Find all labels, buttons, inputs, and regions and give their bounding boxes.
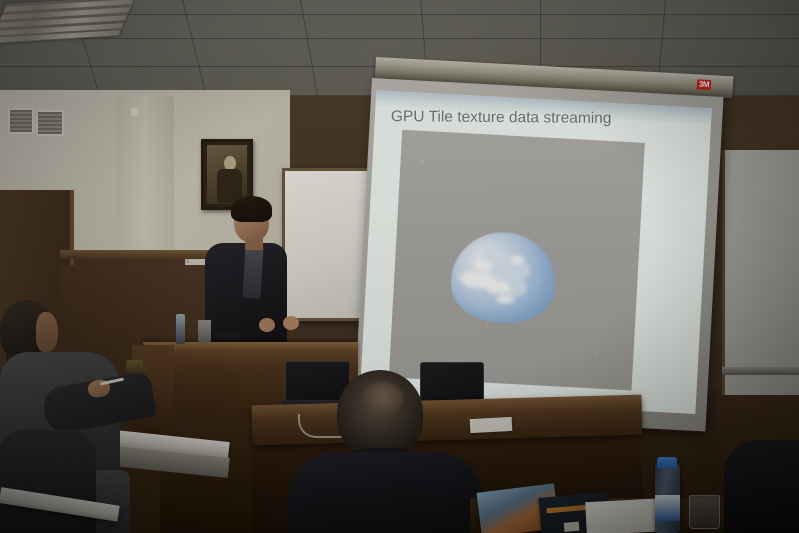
attendee-foreground-torso bbox=[288, 452, 483, 533]
conference-room-photo: 3M GPU Tile texture data streaming bbox=[0, 0, 799, 533]
drinking-glass-foreground[interactable] bbox=[689, 495, 720, 529]
presenter-hand-left bbox=[259, 318, 275, 332]
ceiling-sensor-icon bbox=[131, 108, 138, 116]
cup-podium[interactable] bbox=[198, 320, 211, 343]
whiteboard-right bbox=[722, 150, 799, 395]
presenter-remote[interactable] bbox=[217, 332, 239, 338]
presenter-hand-right bbox=[283, 316, 299, 330]
brochure-logo-chip bbox=[564, 521, 580, 531]
brand-logo-3m: 3M bbox=[697, 79, 712, 90]
attendee-left-back-torso bbox=[0, 430, 96, 533]
wall-vent-right-icon bbox=[36, 110, 64, 136]
presenter-hair bbox=[231, 196, 272, 222]
slide-content-area bbox=[389, 130, 645, 391]
water-bottle-foreground-label bbox=[655, 495, 680, 521]
whiteboard-marker-tray bbox=[722, 367, 799, 375]
portrait-canvas bbox=[207, 145, 247, 204]
wall-vent-left-icon bbox=[8, 108, 34, 134]
projected-slide: GPU Tile texture data streaming bbox=[360, 90, 712, 414]
attendee-right-edge bbox=[724, 440, 799, 533]
attendee-left-front-face bbox=[36, 312, 58, 352]
water-bottle-podium[interactable] bbox=[176, 314, 185, 344]
presenter-shirt bbox=[243, 246, 264, 299]
portrait-head bbox=[224, 156, 236, 170]
projector-screen: GPU Tile texture data streaming bbox=[354, 78, 724, 432]
papers-on-desk[interactable] bbox=[470, 417, 513, 433]
water-bottle-foreground-cap bbox=[657, 457, 677, 468]
attendee-foreground-scalp bbox=[363, 382, 403, 415]
slide-title: GPU Tile texture data streaming bbox=[391, 108, 691, 129]
earth-globe-graphic bbox=[449, 230, 558, 325]
